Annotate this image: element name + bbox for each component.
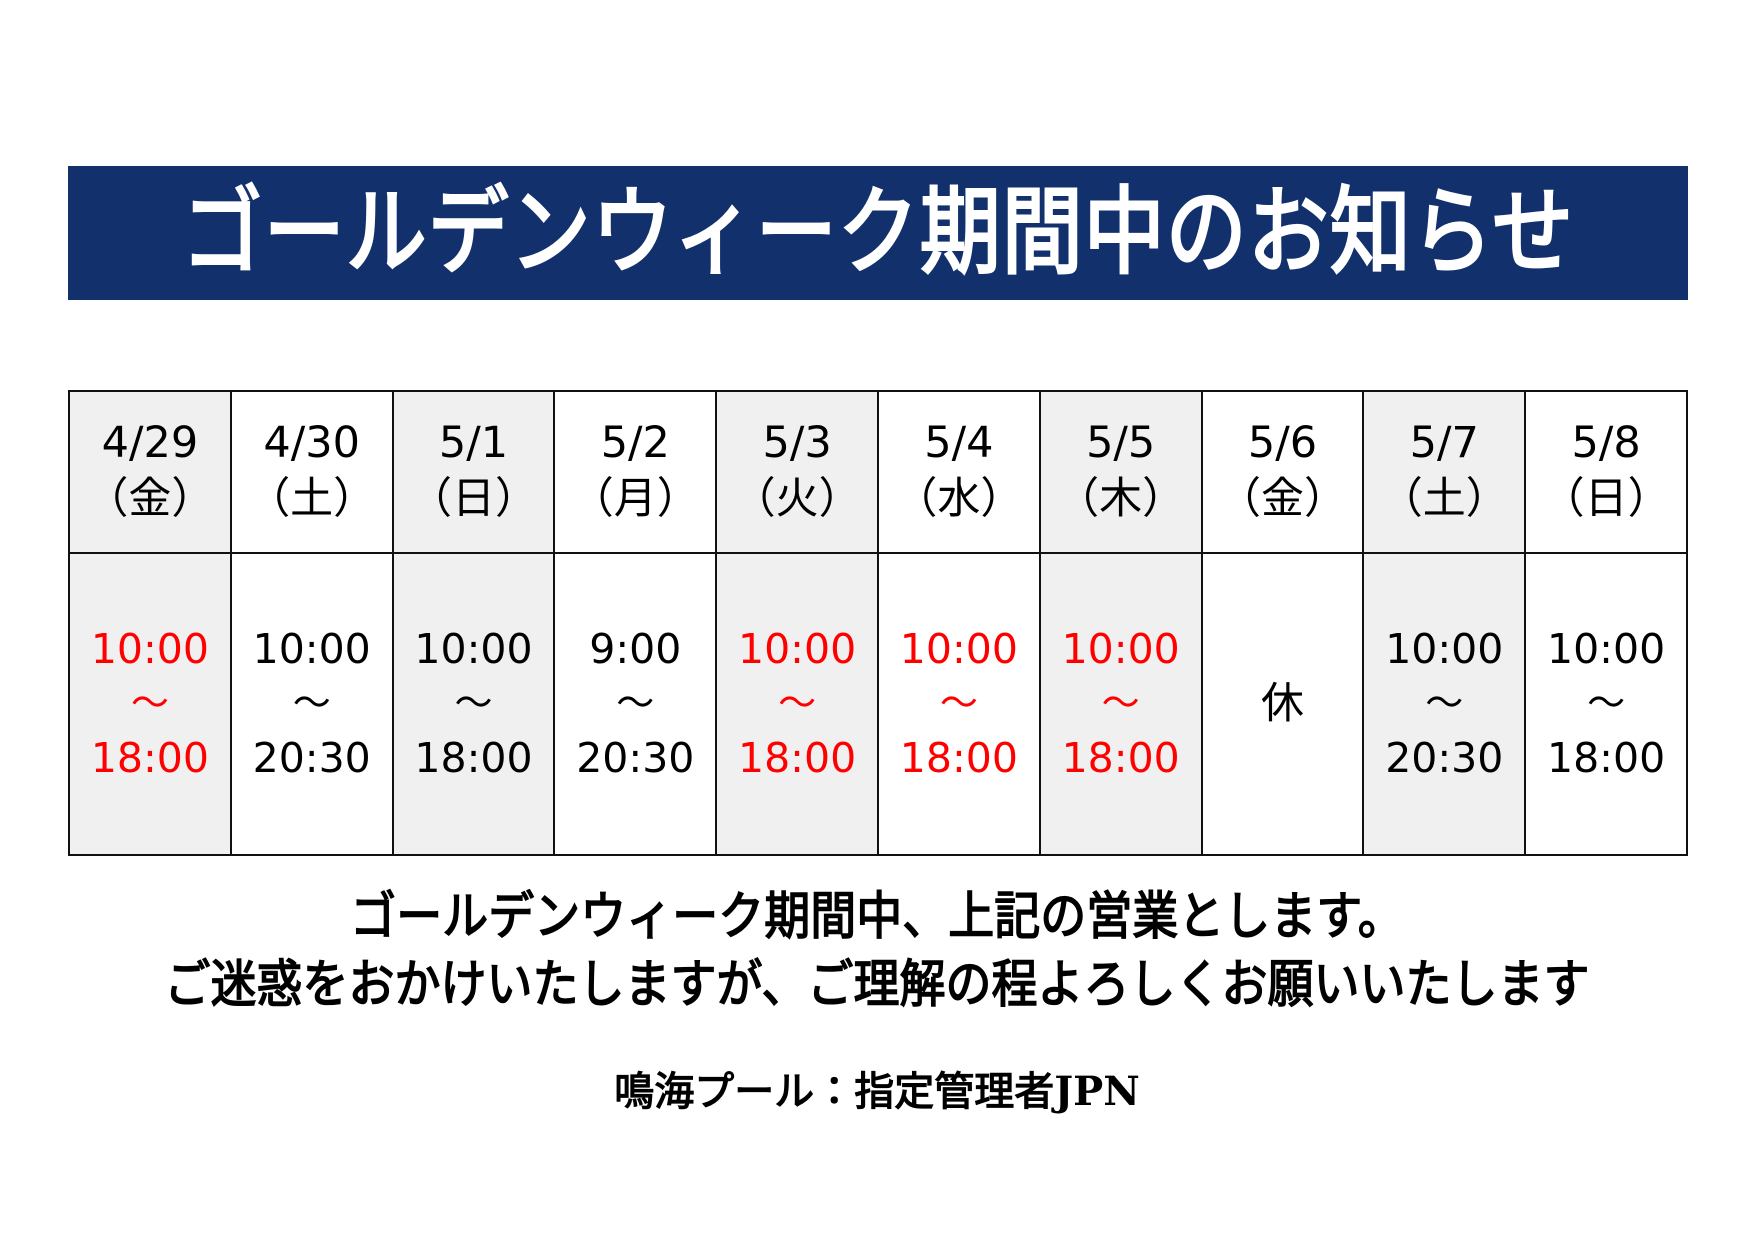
schedule-header-cell: 5/6（金）	[1202, 391, 1364, 553]
schedule-date: 4/30	[232, 416, 392, 472]
schedule-date: 5/5	[1041, 416, 1201, 472]
notice-page: ゴールデンウィーク期間中のお知らせ 4/29（金）4/30（土）5/1（日）5/…	[0, 0, 1754, 1240]
time-range-dash: 〜	[1364, 679, 1524, 728]
schedule-hours-cell: 10:00〜20:30	[231, 553, 393, 855]
schedule-weekday: （日）	[394, 472, 554, 528]
schedule-date: 5/6	[1203, 416, 1363, 472]
schedule-weekday: （金）	[70, 472, 230, 528]
schedule-hours-cell: 10:00〜18:00	[393, 553, 555, 855]
schedule-hours-cell: 10:00〜18:00	[716, 553, 878, 855]
open-time: 9:00	[555, 620, 715, 679]
footer: ゴールデンウィーク期間中、上記の営業とします。 ご迷惑をおかけいたしますが、ご理…	[0, 880, 1754, 1116]
schedule-header-cell: 4/29（金）	[69, 391, 231, 553]
open-time: 10:00	[70, 620, 230, 679]
time-range-dash: 〜	[555, 679, 715, 728]
schedule-date: 5/2	[555, 416, 715, 472]
schedule-table: 4/29（金）4/30（土）5/1（日）5/2（月）5/3（火）5/4（水）5/…	[68, 390, 1688, 856]
close-time: 18:00	[70, 729, 230, 788]
schedule-weekday: （金）	[1203, 472, 1363, 528]
close-time: 18:00	[717, 729, 877, 788]
schedule-hours-cell: 10:00〜18:00	[878, 553, 1040, 855]
open-time: 10:00	[1526, 620, 1686, 679]
close-time: 18:00	[879, 729, 1039, 788]
time-range-dash: 〜	[394, 679, 554, 728]
schedule-weekday: （火）	[717, 472, 877, 528]
schedule-header-cell: 5/2（月）	[554, 391, 716, 553]
schedule-date: 5/8	[1526, 416, 1686, 472]
footer-line-2: ご迷惑をおかけいたしますが、ご理解の程よろしくお願いいたします	[0, 953, 1754, 1016]
open-time: 10:00	[232, 620, 392, 679]
schedule-header-cell: 4/30（土）	[231, 391, 393, 553]
schedule-date: 5/4	[879, 416, 1039, 472]
signature-line: 鳴海プール：指定管理者JPN	[0, 1068, 1754, 1116]
time-range-dash: 〜	[1041, 679, 1201, 728]
table-row-hours: 10:00〜18:0010:00〜20:3010:00〜18:009:00〜20…	[69, 553, 1687, 855]
table-row-dates: 4/29（金）4/30（土）5/1（日）5/2（月）5/3（火）5/4（水）5/…	[69, 391, 1687, 553]
close-time: 18:00	[1041, 729, 1201, 788]
schedule-header-cell: 5/8（日）	[1525, 391, 1687, 553]
schedule-hours-cell: 10:00〜18:00	[1040, 553, 1202, 855]
closed-label: 休	[1261, 679, 1304, 729]
schedule-weekday: （土）	[232, 472, 392, 528]
schedule-weekday: （日）	[1526, 472, 1686, 528]
close-time: 20:30	[555, 729, 715, 788]
schedule-hours-cell: 10:00〜18:00	[69, 553, 231, 855]
time-range-dash: 〜	[717, 679, 877, 728]
schedule-header-cell: 5/7（土）	[1363, 391, 1525, 553]
schedule-date: 5/3	[717, 416, 877, 472]
open-time: 10:00	[1364, 620, 1524, 679]
schedule-hours-cell: 10:00〜18:00	[1525, 553, 1687, 855]
schedule-date: 5/7	[1364, 416, 1524, 472]
time-range-dash: 〜	[70, 679, 230, 728]
time-range-dash: 〜	[879, 679, 1039, 728]
page-title: ゴールデンウィーク期間中のお知らせ	[182, 185, 1574, 281]
schedule-date: 5/1	[394, 416, 554, 472]
open-time: 10:00	[394, 620, 554, 679]
schedule-header-cell: 5/5（木）	[1040, 391, 1202, 553]
schedule-hours-cell: 休	[1202, 553, 1364, 855]
close-time: 18:00	[394, 729, 554, 788]
schedule-weekday: （月）	[555, 472, 715, 528]
schedule-header-cell: 5/4（水）	[878, 391, 1040, 553]
schedule-weekday: （土）	[1364, 472, 1524, 528]
open-time: 10:00	[879, 620, 1039, 679]
close-time: 20:30	[232, 729, 392, 788]
schedule-header-cell: 5/1（日）	[393, 391, 555, 553]
schedule-header-cell: 5/3（火）	[716, 391, 878, 553]
schedule-hours-cell: 10:00〜20:30	[1363, 553, 1525, 855]
schedule-hours-cell: 9:00〜20:30	[554, 553, 716, 855]
schedule-weekday: （木）	[1041, 472, 1201, 528]
schedule-weekday: （水）	[879, 472, 1039, 528]
time-range-dash: 〜	[232, 679, 392, 728]
close-time: 18:00	[1526, 729, 1686, 788]
schedule-date: 4/29	[70, 416, 230, 472]
open-time: 10:00	[717, 620, 877, 679]
time-range-dash: 〜	[1526, 679, 1686, 728]
footer-line-1: ゴールデンウィーク期間中、上記の営業とします。	[0, 885, 1754, 948]
close-time: 20:30	[1364, 729, 1524, 788]
open-time: 10:00	[1041, 620, 1201, 679]
title-banner: ゴールデンウィーク期間中のお知らせ	[68, 166, 1688, 300]
